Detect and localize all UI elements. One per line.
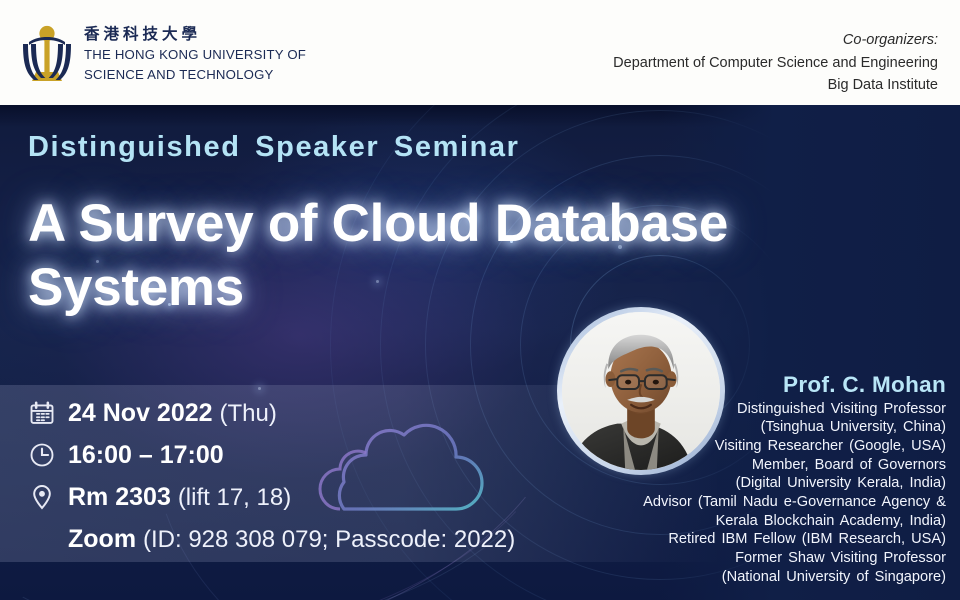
speaker-affiliation: Kerala Blockchain Academy, India) — [626, 512, 946, 531]
event-zoom-text: Zoom (ID: 928 308 079; Passcode: 2022) — [68, 525, 515, 554]
event-venue-text: Rm 2303 (lift 17, 18) — [68, 483, 291, 512]
co-organizers-block: Co-organizers: Department of Computer Sc… — [613, 30, 938, 96]
speaker-info: Prof. C. Mohan Distinguished Visiting Pr… — [626, 372, 946, 586]
event-detail-time: 16:00 – 17:00 — [28, 434, 515, 476]
speaker-affiliation: Member, Board of Governors — [626, 456, 946, 475]
event-detail-venue: Rm 2303 (lift 17, 18) — [28, 476, 515, 518]
logo-name-english-line1: THE HONG KONG UNIVERSITY OF — [84, 46, 306, 63]
speaker-affiliation: Distinguished Visiting Professor — [626, 400, 946, 419]
page-header: 香港科技大學 THE HONG KONG UNIVERSITY OF SCIEN… — [0, 0, 960, 105]
event-detail-zoom: Zoom (ID: 928 308 079; Passcode: 2022) — [28, 518, 515, 560]
logo-name-english-line2: SCIENCE AND TECHNOLOGY — [84, 66, 306, 83]
speaker-name: Prof. C. Mohan — [626, 372, 946, 399]
speaker-affiliation: (Digital University Kerala, India) — [626, 474, 946, 493]
location-pin-icon — [28, 483, 68, 511]
speaker-affiliation: Visiting Researcher (Google, USA) — [626, 437, 946, 456]
seminar-series-label: Distinguished Speaker Seminar — [28, 131, 520, 164]
event-details-list: 24 Nov 2022 (Thu) 16:00 – 17:00 Rm 2303 … — [28, 392, 515, 560]
co-organizers-label: Co-organizers: — [613, 30, 938, 52]
speaker-affiliation: Former Shaw Visiting Professor — [626, 549, 946, 568]
event-detail-date: 24 Nov 2022 (Thu) — [28, 392, 515, 434]
event-date-text: 24 Nov 2022 (Thu) — [68, 399, 277, 428]
hkust-logo-icon — [20, 24, 74, 86]
seminar-title: A Survey of Cloud Database Systems — [28, 192, 938, 320]
calendar-icon — [28, 399, 68, 427]
speaker-affiliation: (National University of Singapore) — [626, 568, 946, 587]
logo-name-chinese: 香港科技大學 — [84, 25, 306, 44]
speaker-affiliation: (Tsinghua University, China) — [626, 418, 946, 437]
speaker-affiliation: Retired IBM Fellow (IBM Research, USA) — [626, 530, 946, 549]
speaker-affiliation: Advisor (Tamil Nadu e-Governance Agency … — [626, 493, 946, 512]
seminar-poster: 香港科技大學 THE HONG KONG UNIVERSITY OF SCIEN… — [0, 0, 960, 600]
clock-icon — [28, 441, 68, 469]
co-organizer-item: Big Data Institute — [613, 74, 938, 96]
event-time-text: 16:00 – 17:00 — [68, 441, 224, 470]
co-organizer-item: Department of Computer Science and Engin… — [613, 52, 938, 74]
hkust-logo: 香港科技大學 THE HONG KONG UNIVERSITY OF SCIEN… — [20, 24, 306, 86]
